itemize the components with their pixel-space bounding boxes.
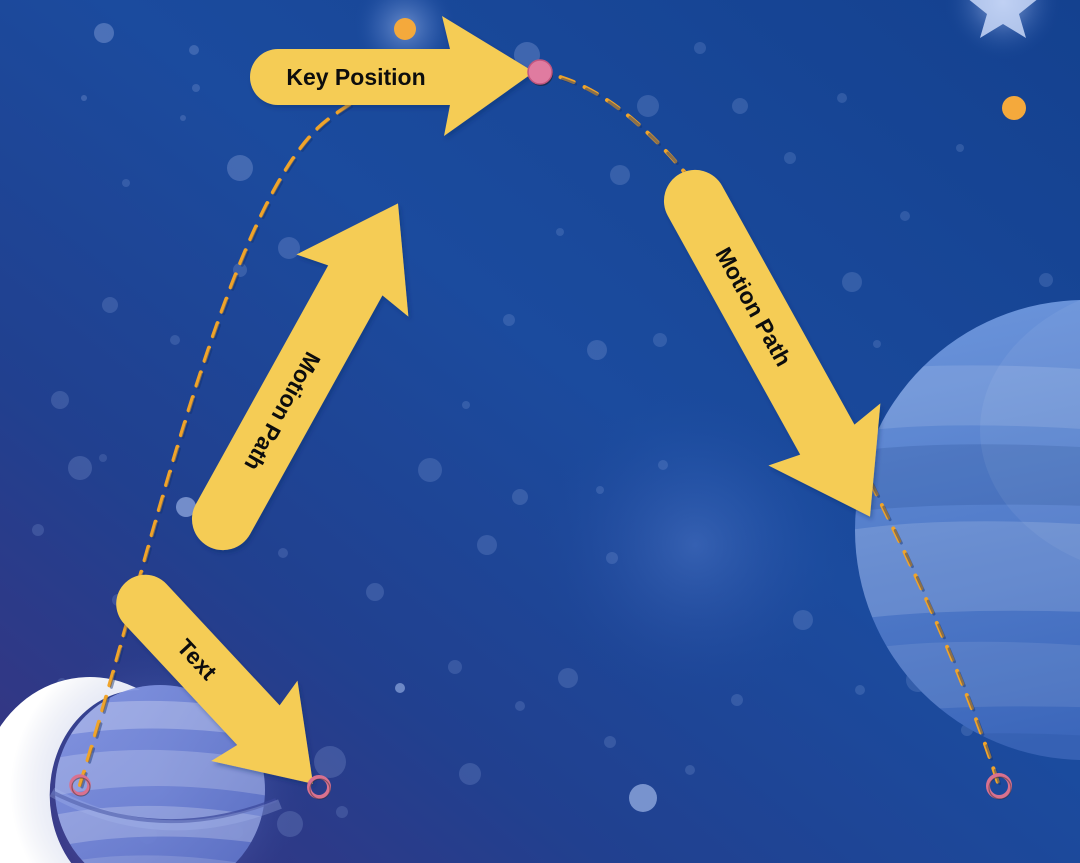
path-markers-layer xyxy=(0,0,1080,863)
start-marker[interactable] xyxy=(71,776,90,796)
motion-path-canvas: Key Position Motion Path Motion Path xyxy=(0,0,1080,863)
scene-root: Key Position Motion Path Motion Path xyxy=(0,0,1080,863)
end-marker[interactable] xyxy=(988,775,1011,799)
mid-drop-marker[interactable] xyxy=(309,777,330,799)
key-position-marker[interactable] xyxy=(528,60,553,86)
